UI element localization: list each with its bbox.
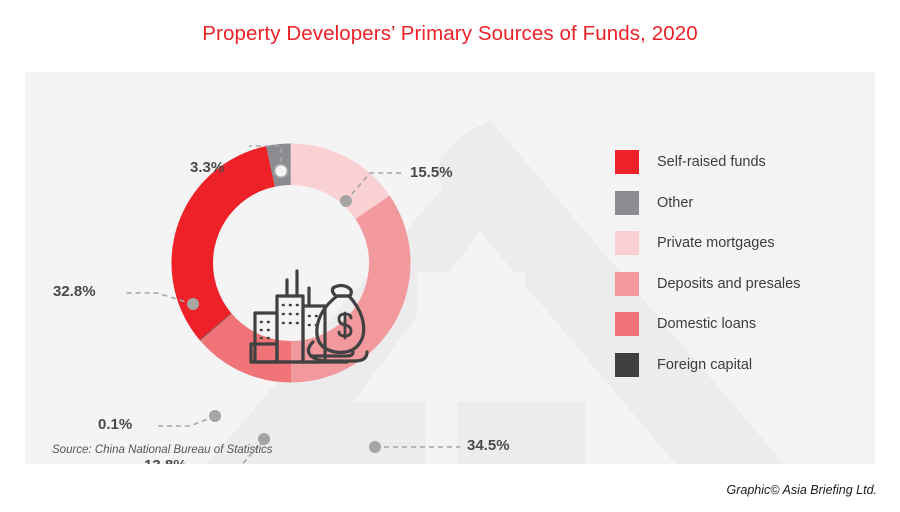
dot-self-raised-funds[interactable] <box>187 298 199 310</box>
infographic-root: Property Developers’ Primary Sources of … <box>0 0 900 512</box>
chart-panel: 3.3% 15.5% 32.8% 0.1% 13.8% 34.5% <box>25 72 875 464</box>
legend-item-label: Other <box>657 195 693 211</box>
legend-item-label: Foreign capital <box>657 357 752 373</box>
legend-item-foreign-capital[interactable]: Foreign capital <box>615 345 865 386</box>
callout-self-raised-funds: 32.8% <box>53 283 96 300</box>
dot-other[interactable] <box>275 165 288 178</box>
legend-swatch-icon <box>615 150 639 174</box>
legend-item-label: Self-raised funds <box>657 154 766 170</box>
page-title: Property Developers’ Primary Sources of … <box>0 22 900 46</box>
callout-domestic-loans: 13.8% <box>144 457 187 464</box>
dot-foreign-capital[interactable] <box>209 410 221 422</box>
callout-foreign-capital: 0.1% <box>98 416 132 433</box>
buildings-and-money-bag-icon <box>247 266 383 384</box>
legend-item-private-mortgages[interactable]: Private mortgages <box>615 223 865 264</box>
source-note: Source: China National Bureau of Statist… <box>52 444 273 456</box>
callout-other: 3.3% <box>190 159 224 176</box>
dot-private-mortgages[interactable] <box>340 195 352 207</box>
legend-swatch-icon <box>615 312 639 336</box>
legend-item-self-raised-funds[interactable]: Self-raised funds <box>615 142 865 183</box>
legend-item-other[interactable]: Other <box>615 183 865 224</box>
legend-swatch-icon <box>615 191 639 215</box>
legend-swatch-icon <box>615 272 639 296</box>
legend-item-label: Deposits and presales <box>657 276 800 292</box>
dot-deposits-and-presales[interactable] <box>369 441 381 453</box>
legend-swatch-icon <box>615 353 639 377</box>
legend: Self-raised funds Other Private mortgage… <box>615 142 865 385</box>
legend-item-label: Domestic loans <box>657 316 756 332</box>
callout-private-mortgages: 15.5% <box>410 164 453 181</box>
callout-deposits-and-presales: 34.5% <box>467 437 510 454</box>
legend-item-domestic-loans[interactable]: Domestic loans <box>615 304 865 345</box>
legend-swatch-icon <box>615 231 639 255</box>
credit-note: Graphic© Asia Briefing Ltd. <box>727 483 877 497</box>
legend-item-deposits-and-presales[interactable]: Deposits and presales <box>615 264 865 305</box>
legend-item-label: Private mortgages <box>657 235 775 251</box>
